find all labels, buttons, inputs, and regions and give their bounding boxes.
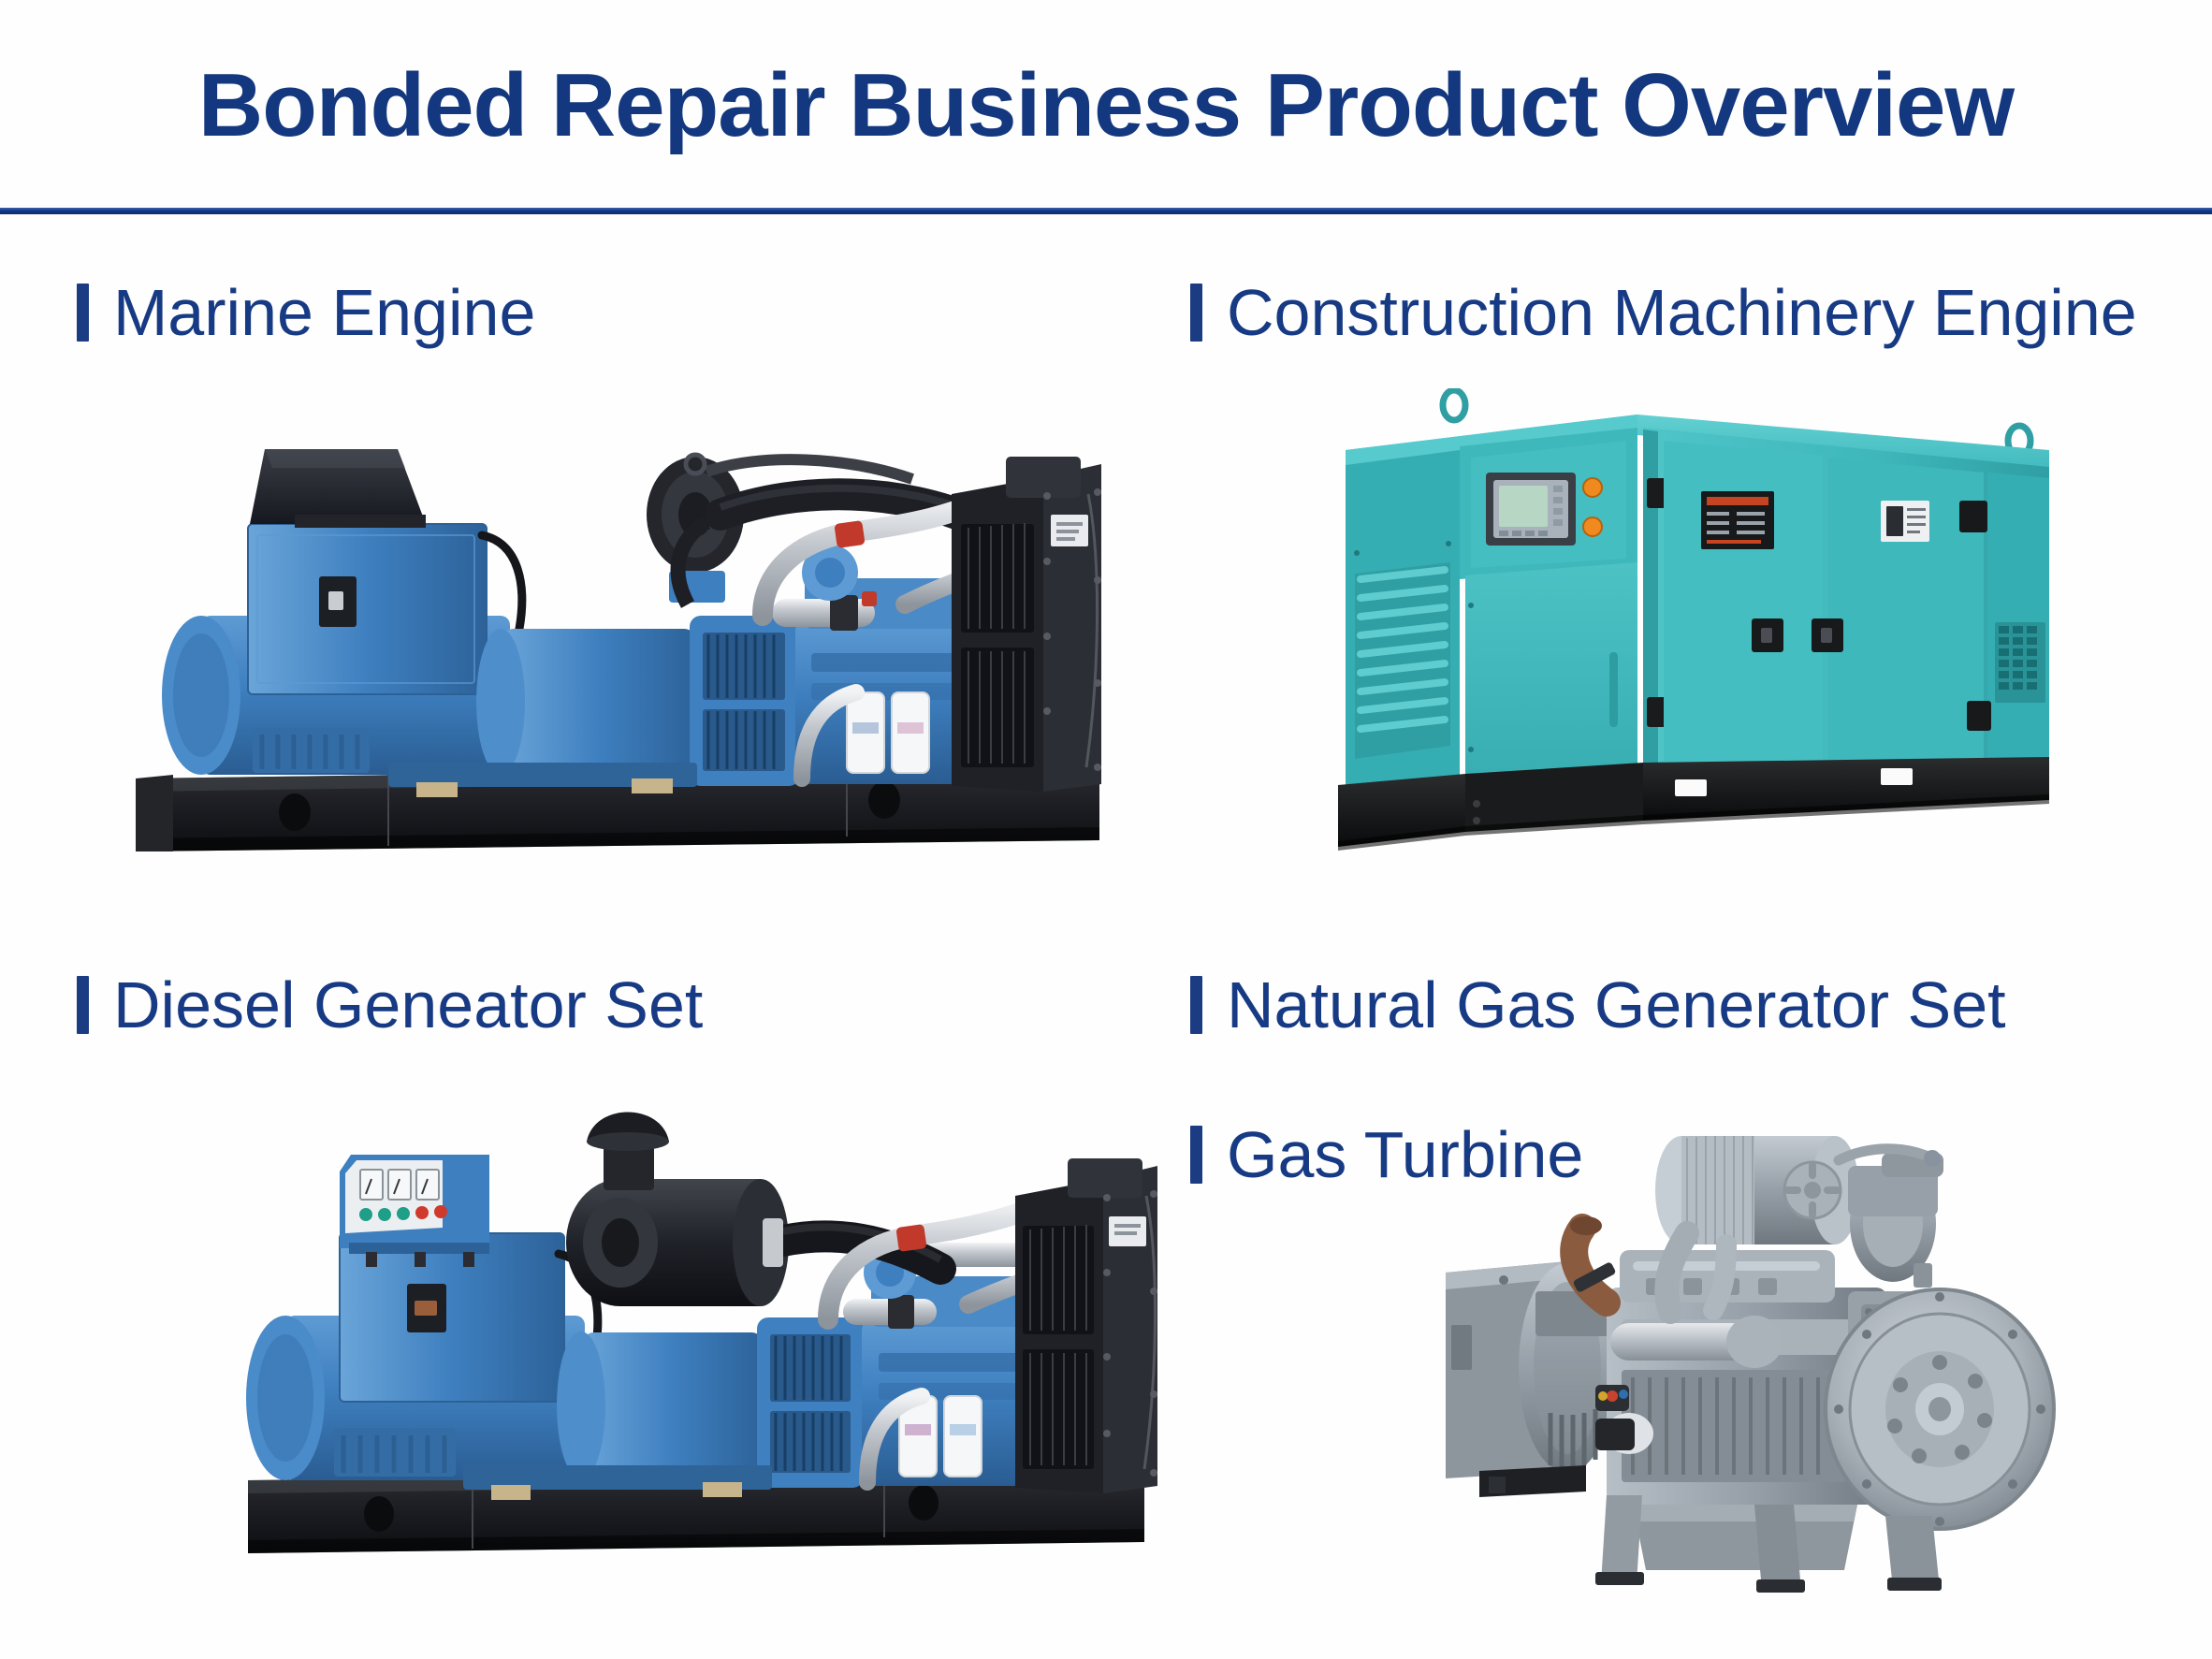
marine-engine-photo [108,374,1128,870]
door-handle [1609,652,1618,727]
heading-marker-bar-icon [77,976,89,1034]
control-panel-gauges [360,1170,439,1200]
section-title-text: Natural Gas Generator Set [1227,969,2006,1041]
title-divider [0,208,2212,214]
heading-marker-bar-icon [77,284,89,342]
oil-bath-canister [1839,1149,1943,1288]
gas-turbine-photo [1446,1104,2073,1609]
diesel-generator-set-photo [229,1076,1174,1572]
section-title-text: Construction Machinery Engine [1227,277,2137,348]
section-title-text: Diesel Geneator Set [113,969,703,1041]
canopy-main-doors [1643,428,2049,776]
indicator-lamp-lower [1583,517,1602,536]
heading-marker-bar-icon [1190,284,1202,342]
page-title: Bonded Repair Business Product Overview [0,54,2212,157]
radiator-assembly [952,457,1101,792]
section-heading-natural-gas-generator-set: Natural Gas Generator Set [1190,969,2006,1041]
door-handle-right [1959,501,1987,532]
mounting-foot-left [1601,1495,1642,1583]
door-latch-end [1967,701,1991,731]
indicator-lamp-upper [1583,478,1602,497]
section-heading-construction-machinery-engine: Construction Machinery Engine [1190,277,2137,348]
flywheel-housing [1826,1289,2054,1529]
section-title-text: Marine Engine [113,277,535,348]
heading-marker-bar-icon [1190,976,1202,1034]
forklift-slot-right [1881,768,1913,785]
heading-marker-bar-icon [1190,1126,1202,1184]
control-panel-bay [1460,428,1637,787]
radiator-assembly [1015,1158,1157,1493]
section-heading-marine-engine: Marine Engine [77,277,535,348]
forklift-slot-left [1675,779,1707,796]
section-heading-diesel-generator-set: Diesel Geneator Set [77,969,703,1041]
controller-lcd [1499,486,1548,527]
canopy-left-panel [1346,450,1460,791]
exhaust-elbow [1570,1216,1617,1302]
construction-machinery-engine-photo [1329,388,2059,856]
mounting-foot-center [1754,1505,1801,1591]
